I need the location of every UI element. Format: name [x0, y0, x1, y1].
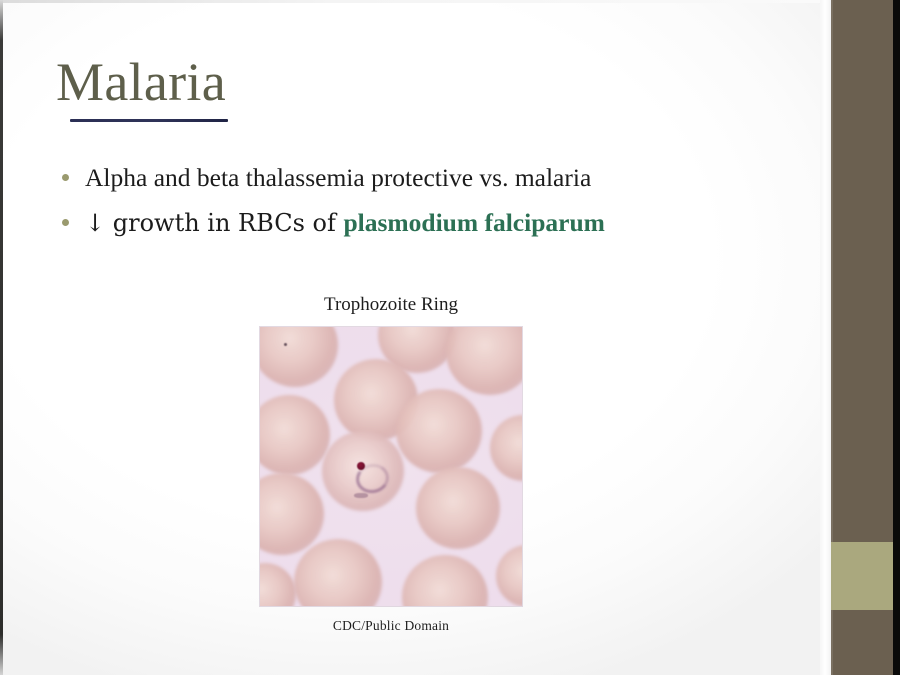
red-blood-cell [260, 327, 338, 387]
list-item: ↓ growth in RBCs of plasmodium falciparu… [62, 207, 782, 238]
red-blood-cell [260, 395, 330, 475]
bullet-text-prefix: ↓ growth in RBCs of [85, 209, 343, 237]
bullet-list: Alpha and beta thalassemia protective vs… [62, 162, 782, 252]
figure-block: Trophozoite Ring CDC/Public Domain [260, 294, 522, 634]
slide-left-edge [0, 0, 3, 675]
slide-right-edge [893, 0, 900, 675]
red-blood-cell [294, 539, 382, 606]
figure-caption-top: Trophozoite Ring [260, 294, 522, 316]
figure-caption-bottom: CDC/Public Domain [260, 618, 522, 634]
bullet-dot-icon [62, 174, 69, 181]
red-blood-cell [396, 389, 482, 473]
red-blood-cell [416, 467, 500, 549]
stain-speck [354, 493, 368, 498]
presentation-slide: Malaria Alpha and beta thalassemia prote… [0, 0, 900, 675]
slide-top-edge [0, 0, 832, 3]
bullet-text-emphasis: plasmodium falciparum [343, 208, 604, 237]
page-title: Malaria [56, 55, 226, 110]
red-blood-cell [446, 327, 522, 395]
bullet-text: Alpha and beta thalassemia protective vs… [85, 162, 591, 193]
title-underline-rule [70, 119, 228, 122]
chromatin-dot [357, 462, 365, 470]
sidebar-accent-block [831, 542, 893, 610]
red-blood-cell [260, 473, 324, 555]
blood-smear-micrograph [260, 327, 522, 606]
red-blood-cell [260, 563, 296, 606]
bullet-text: ↓ growth in RBCs of plasmodium falciparu… [85, 207, 605, 238]
red-blood-cell [402, 555, 488, 606]
list-item: Alpha and beta thalassemia protective vs… [62, 162, 782, 193]
stain-speck [284, 343, 287, 346]
red-blood-cell [496, 545, 522, 606]
red-blood-cell [490, 415, 522, 481]
bullet-dot-icon [62, 219, 69, 226]
